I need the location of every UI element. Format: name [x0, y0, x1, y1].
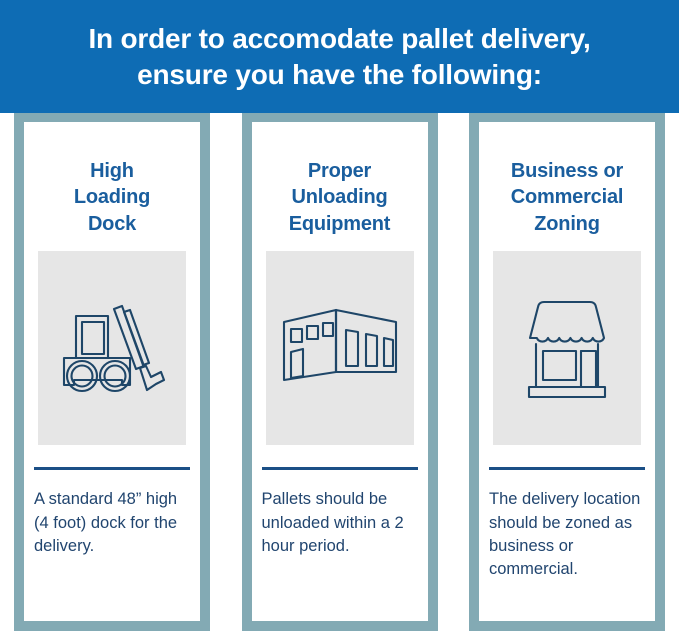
card-title-line-1: Business or [511, 158, 624, 184]
requirement-cards-row: High Loading Dock [0, 113, 679, 639]
card-divider [262, 467, 418, 470]
card-divider [34, 467, 190, 470]
requirement-card-proper-unloading-equipment: Proper Unloading Equipment [242, 113, 438, 631]
card-title-line-3: Zoning [511, 211, 624, 237]
header-banner: In order to accomodate pallet delivery, … [0, 0, 679, 113]
warehouse-icon [278, 306, 402, 390]
card-divider [489, 467, 645, 470]
storefront-icon [508, 294, 626, 402]
icon-panel-storefront [493, 251, 641, 445]
pallet-delivery-infographic: In order to accomodate pallet delivery, … [0, 0, 679, 639]
card-title-line-1: Proper [289, 158, 391, 184]
card-title-high-loading-dock: High Loading Dock [70, 158, 154, 237]
card-caption-high-loading-dock: A standard 48” high (4 foot) dock for th… [34, 488, 190, 558]
forklift-icon [52, 292, 172, 404]
card-title-line-1: High [74, 158, 150, 184]
card-content: High Loading Dock [24, 122, 200, 621]
card-title-business-commercial-zoning: Business or Commercial Zoning [507, 158, 628, 237]
card-content: Business or Commercial Zoning [479, 122, 655, 621]
card-title-line-3: Equipment [289, 211, 391, 237]
card-title-line-2: Loading [74, 184, 150, 210]
card-title-line-2: Commercial [511, 184, 624, 210]
card-title-line-2: Unloading [289, 184, 391, 210]
icon-panel-forklift [38, 251, 186, 445]
card-title-proper-unloading-equipment: Proper Unloading Equipment [285, 158, 395, 237]
requirement-card-high-loading-dock: High Loading Dock [14, 113, 210, 631]
requirement-card-business-commercial-zoning: Business or Commercial Zoning [469, 113, 665, 631]
card-title-line-3: Dock [74, 211, 150, 237]
header-title-line-2: ensure you have the following: [137, 57, 542, 93]
card-content: Proper Unloading Equipment [252, 122, 428, 621]
icon-panel-warehouse [266, 251, 414, 445]
card-caption-business-commercial-zoning: The delivery location should be zoned as… [489, 488, 645, 582]
card-caption-proper-unloading-equipment: Pallets should be unloaded within a 2 ho… [262, 488, 418, 558]
header-title-line-1: In order to accomodate pallet delivery, [88, 21, 590, 57]
